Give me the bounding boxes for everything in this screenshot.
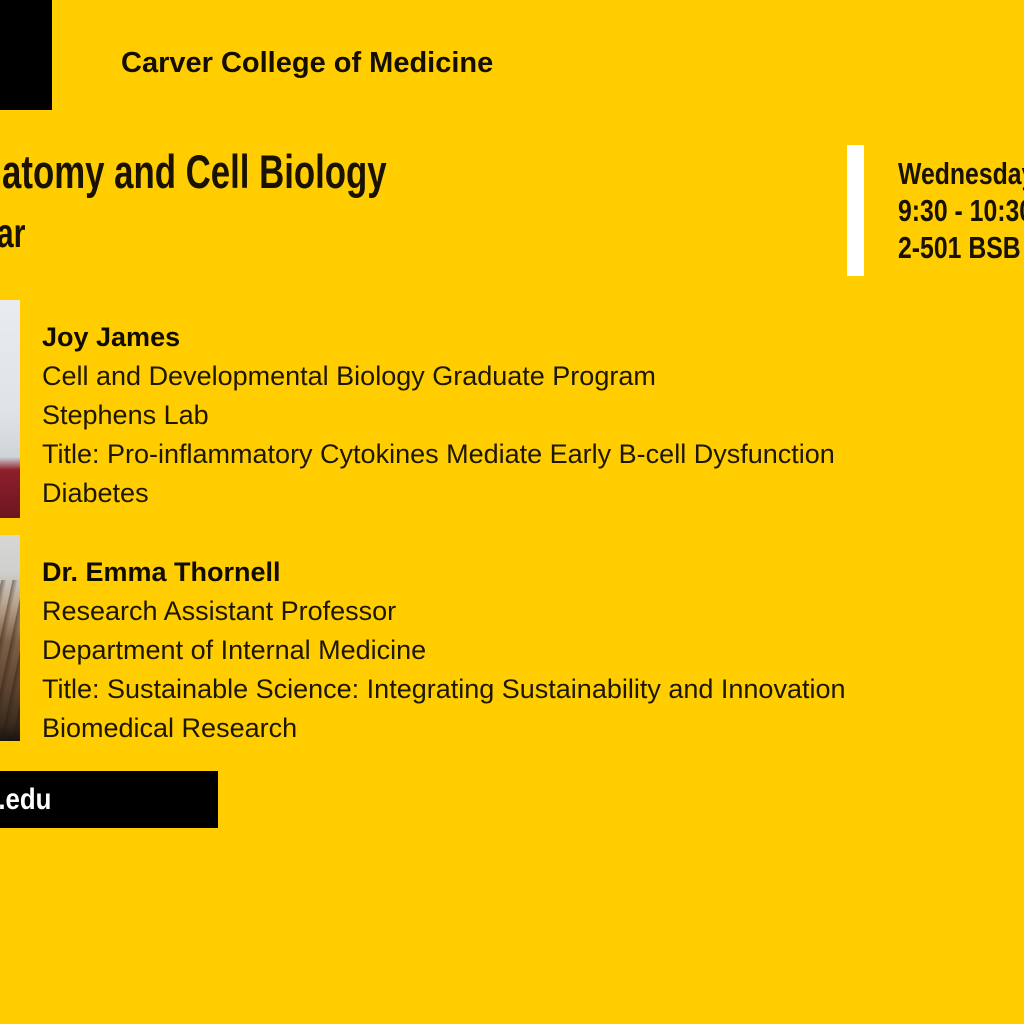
speaker-name: Joy James [42, 318, 1024, 357]
speaker-details: Dr. Emma Thornell Research Assistant Pro… [42, 553, 1024, 748]
portrait-artwork [0, 300, 20, 518]
event-room: 2-501 BSB [898, 229, 1024, 266]
seminar-poster: A Carver College of Medicine nt of Anato… [0, 0, 1024, 1024]
speaker-photo-emma-thornell [0, 535, 20, 741]
department-headline: nt of Anatomy and Cell Biology al Semina… [0, 145, 692, 257]
vertical-divider-rule [847, 145, 864, 276]
speaker-talk-title-line-2: Biomedical Research [42, 709, 1024, 748]
headline-line-1: nt of Anatomy and Cell Biology [0, 145, 479, 199]
speaker-program: Cell and Developmental Biology Graduate … [42, 357, 1024, 396]
speaker-details: Joy James Cell and Developmental Biology… [42, 318, 1024, 513]
event-time: 9:30 - 10:30 A [898, 192, 1024, 229]
event-details: Wednesday 9:30 - 10:30 A 2-501 BSB [898, 155, 1024, 266]
college-name: Carver College of Medicine [121, 44, 493, 82]
speaker-lab: Department of Internal Medicine [42, 631, 1024, 670]
website-url[interactable]: ne.uiowa.edu [0, 771, 51, 828]
headline-line-2: al Seminar [0, 209, 479, 257]
speaker-program: Research Assistant Professor [42, 592, 1024, 631]
portrait-artwork [0, 535, 20, 741]
speaker-photo-joy-james [0, 300, 20, 518]
event-day: Wednesday [898, 155, 1024, 192]
speaker-name: Dr. Emma Thornell [42, 553, 1024, 592]
website-url-banner[interactable]: ne.uiowa.edu [0, 771, 218, 828]
speaker-talk-title-line-2: Diabetes [42, 474, 1024, 513]
iowa-logo: A [0, 0, 52, 110]
speaker-lab: Stephens Lab [42, 396, 1024, 435]
iowa-logo-glyph: A [0, 6, 52, 104]
speaker-talk-title-line-1: Title: Pro-inflammatory Cytokines Mediat… [42, 435, 1024, 474]
speaker-talk-title-line-1: Title: Sustainable Science: Integrating … [42, 670, 1024, 709]
